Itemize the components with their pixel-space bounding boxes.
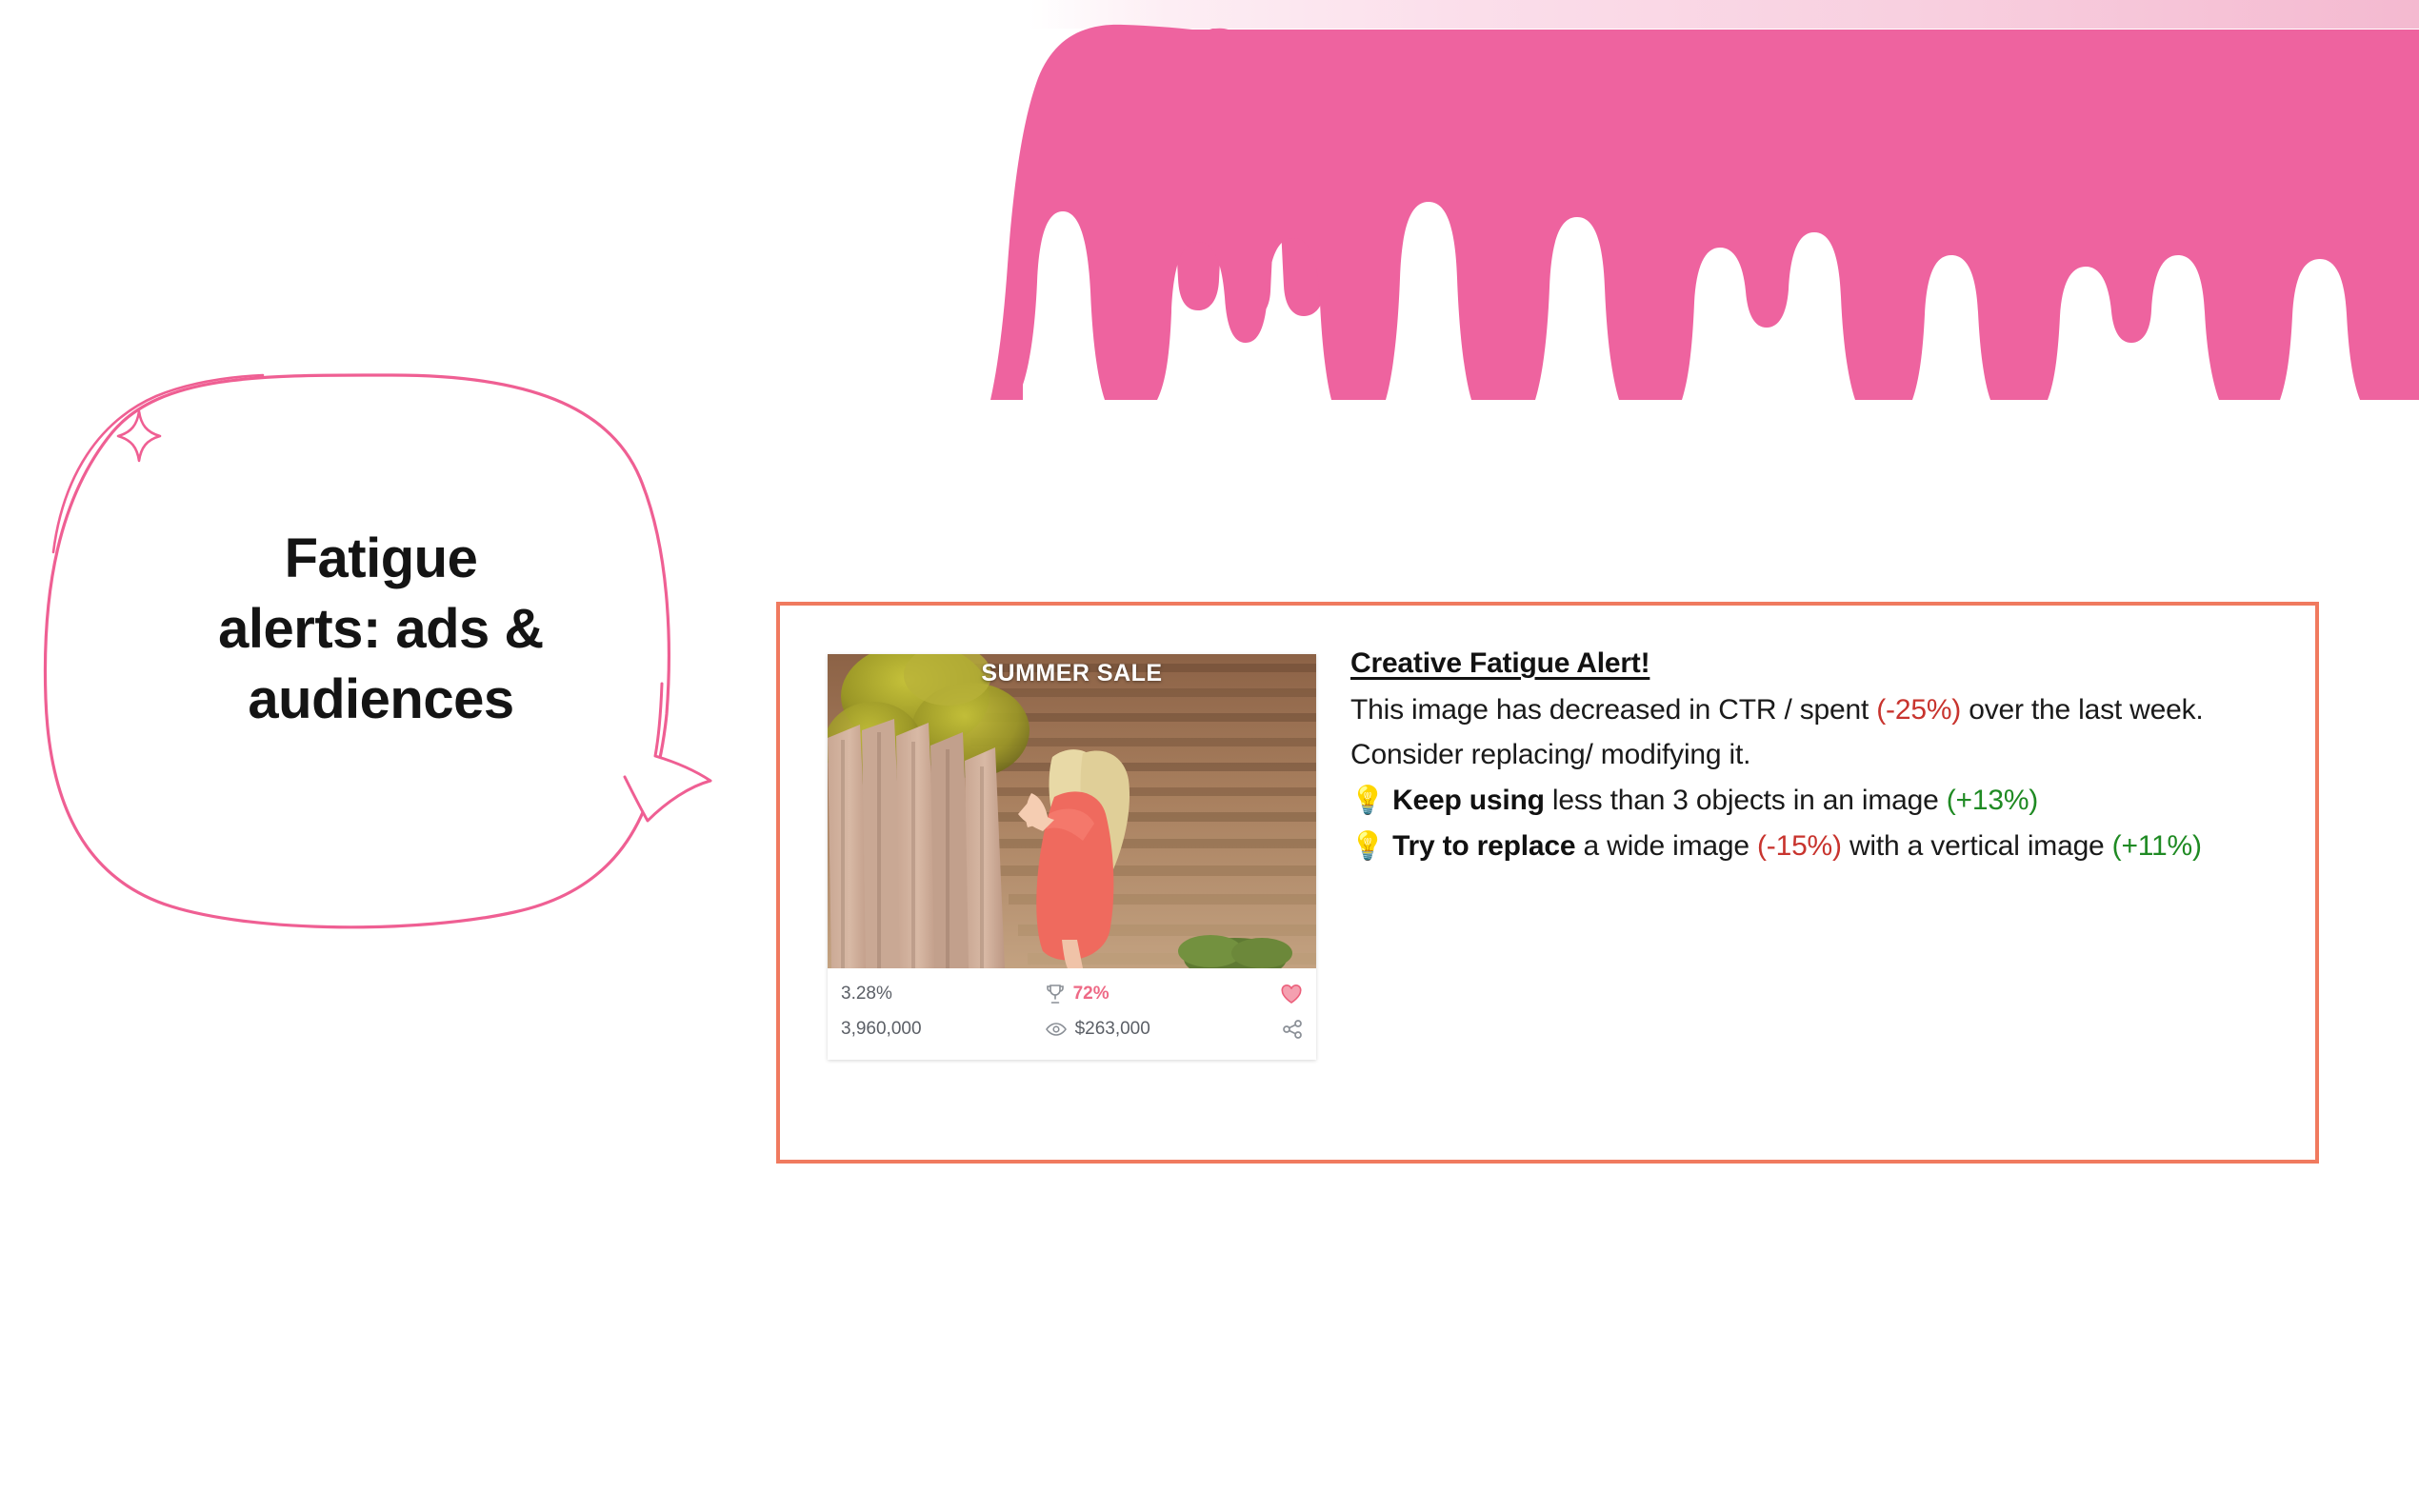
alert-tip-1-lead: Keep using bbox=[1392, 785, 1545, 816]
alert-tip-1-delta: (+13%) bbox=[1947, 785, 2038, 816]
metric-ctr-value: 3.28% bbox=[841, 984, 892, 1005]
alert-tip-2-lead: Try to replace bbox=[1392, 830, 1575, 862]
heart-reaction-icon bbox=[1280, 984, 1303, 1005]
alert-tip-2-delta-b: (+11%) bbox=[2112, 830, 2202, 862]
metric-impressions-value: 3,960,000 bbox=[841, 1019, 922, 1040]
alert-intro-part-1: This image has decreased in CTR / spent bbox=[1350, 694, 1876, 726]
alert-text-panel: Creative Fatigue Alert! This image has d… bbox=[1350, 647, 2236, 868]
lightbulb-icon: 💡 bbox=[1350, 786, 1385, 816]
trophy-icon bbox=[1046, 984, 1065, 1005]
callout-title: Fatigue alerts: ads & audiences bbox=[114, 524, 648, 736]
metric-reaction bbox=[1249, 984, 1303, 1005]
drip-top-gradient-band bbox=[0, 0, 2419, 32]
ad-metrics: 3.28% 72% bbox=[828, 968, 1316, 1060]
ad-creative-artwork bbox=[828, 654, 1316, 968]
alert-body: This image has decreased in CTR / spent … bbox=[1350, 687, 2236, 868]
ad-creative-image[interactable]: SUMMER SALE bbox=[828, 654, 1316, 968]
drip-decoration bbox=[0, 0, 2419, 400]
pink-drip-shape bbox=[0, 0, 2419, 400]
alert-title: Creative Fatigue Alert! bbox=[1350, 647, 2236, 680]
ad-creative-caption: SUMMER SALE bbox=[828, 660, 1316, 687]
speech-bubble: Fatigue alerts: ads & audiences bbox=[38, 362, 743, 952]
alert-tip-1: 💡 Keep using less than 3 objects in an i… bbox=[1350, 778, 2236, 824]
metric-score: 72% bbox=[1046, 984, 1250, 1005]
eye-icon bbox=[1046, 1022, 1067, 1037]
metric-spend: $263,000 bbox=[1046, 1019, 1250, 1040]
alert-tip-2-delta-a: (-15%) bbox=[1757, 830, 1842, 862]
metric-row: 3.28% 72% bbox=[841, 976, 1303, 1011]
alert-intro-delta: (-25%) bbox=[1876, 694, 1961, 726]
share-icon bbox=[1282, 1020, 1303, 1039]
lightbulb-icon: 💡 bbox=[1350, 831, 1385, 862]
callout-title-line-2: alerts: ads & bbox=[114, 594, 648, 665]
callout-title-line-1: Fatigue bbox=[114, 524, 648, 594]
metric-ctr: 3.28% bbox=[841, 984, 1046, 1005]
alert-tip-1-text: less than 3 objects in an image bbox=[1545, 785, 1947, 816]
callout-title-line-3: audiences bbox=[114, 665, 648, 735]
metric-row: 3,960,000 $263,000 bbox=[841, 1011, 1303, 1046]
alert-tip-2-text-a: a wide image bbox=[1575, 830, 1757, 862]
ad-preview[interactable]: SUMMER SALE 3.28% 72 bbox=[828, 654, 1316, 1060]
metric-score-value: 72% bbox=[1073, 984, 1110, 1005]
metric-spend-value: $263,000 bbox=[1075, 1019, 1150, 1040]
alert-tip-2: 💡 Try to replace a wide image (-15%) wit… bbox=[1350, 824, 2236, 869]
creative-fatigue-alert-card: SUMMER SALE 3.28% 72 bbox=[776, 602, 2319, 1164]
alert-tip-2-text-b: with a vertical image bbox=[1842, 830, 2112, 862]
metric-impressions: 3,960,000 bbox=[841, 1019, 1046, 1040]
metric-share bbox=[1249, 1020, 1303, 1039]
